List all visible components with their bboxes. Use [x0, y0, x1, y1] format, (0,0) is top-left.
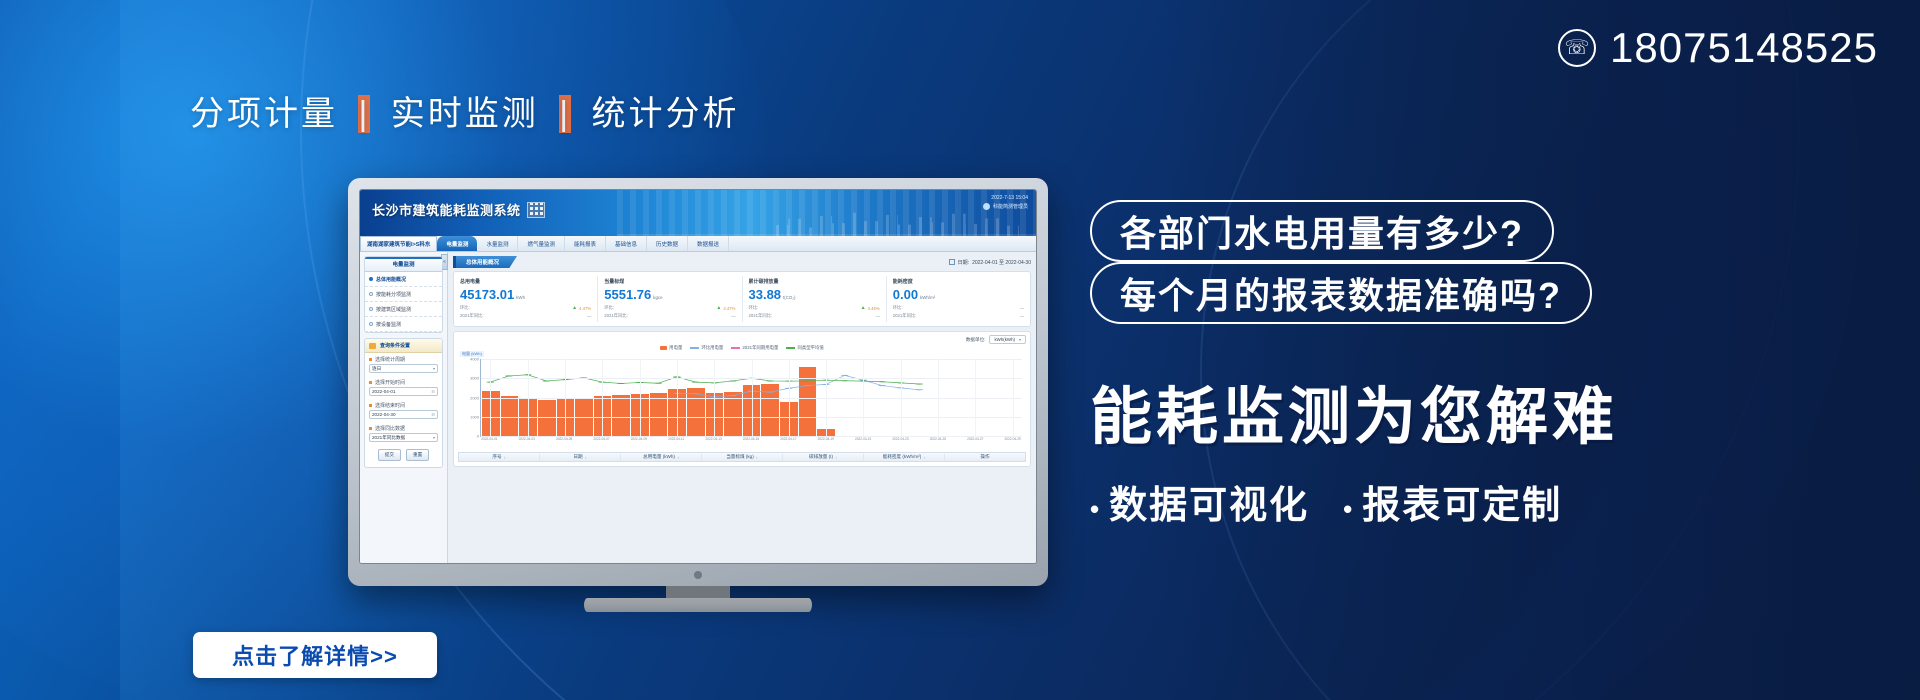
app-nav[interactable]: 湖南湖家建筑节能I>S科东 电量监测 水量监测 燃气量监测 能耗报表 基础信息 … — [360, 236, 1036, 252]
nav-item-data-submit[interactable]: 数据报送 — [688, 236, 729, 251]
kpi-delta: ▲4.46% — [861, 305, 880, 311]
bullet-icon: • — [1090, 494, 1101, 524]
chart-card: 数据单位: kWh(kWh) ▾ 用电量 环比用电量 2021年同期用电量 — [453, 331, 1031, 467]
chevron-down-icon: ▾ — [433, 366, 435, 371]
kpi-unit: kWh/m² — [920, 295, 935, 300]
sort-icon: ↕ — [835, 455, 837, 460]
x-axis-tick: 2022-04-25 — [929, 437, 948, 449]
app-header: 长沙市建筑能耗监测系统 2022-7-13 15:04 科能简测管理员 — [360, 190, 1036, 236]
filter-select-yoy[interactable]: 2021年同比数据 ▾ — [369, 433, 438, 442]
kpi-value: 0.00kWh/m² — [893, 288, 1024, 301]
kpi-details: 环比: ▲4.47% 2021年同比: — — [460, 304, 591, 320]
date-range-label: 日期: — [958, 259, 969, 266]
kpi-details: 环比: ▲4.46% 2021年同比: — — [749, 304, 880, 320]
x-axis-tick: 2022-04-27 — [966, 437, 985, 449]
chart-point — [729, 380, 737, 381]
grid-line-vertical — [677, 359, 678, 436]
kpi-delta: ▲4.47% — [572, 305, 591, 311]
filter-input-start-date[interactable]: 2022-04-01 ☷ — [369, 387, 438, 396]
kpi-number: 0.00 — [893, 287, 918, 302]
sidebar-item-by-device[interactable]: 按设备监测 — [365, 317, 442, 332]
x-axis-tick — [686, 437, 705, 449]
chart-unit-select[interactable]: kWh(kWh) ▾ — [989, 335, 1026, 344]
chart-point — [878, 385, 886, 386]
x-axis-tick — [573, 437, 592, 449]
marker-icon — [369, 358, 372, 361]
bullet-icon — [369, 292, 373, 296]
kpi-yoy-label: 2021年同比: — [893, 313, 917, 319]
grid-line-vertical — [1013, 359, 1014, 436]
chart-point — [617, 383, 625, 384]
filter-icon — [369, 343, 376, 349]
kpi-compare-label: 环比: — [893, 305, 903, 311]
kpi-delta-value: 4.47% — [723, 306, 735, 311]
kpi-yoy-row: 2021年同比: — — [604, 312, 735, 320]
chart-line-同类型平均值 — [490, 375, 919, 384]
filter-label-end: 选择结束时间 — [365, 399, 442, 410]
legend-label: 环比用电量 — [701, 345, 723, 351]
x-axis-tick — [536, 437, 555, 449]
kpi-value: 5551.76kgce — [604, 288, 735, 301]
main-content: 总体用能概况 日期: 2022-04-01 至 2022-04-30 总用电量 — [448, 252, 1036, 563]
headline: 能耗监测为您解难 — [1090, 366, 1890, 456]
kpi-yoy-value: — — [587, 314, 591, 319]
filter-value: 2022-04-01 — [372, 389, 396, 394]
nav-item-report[interactable]: 能耗报表 — [565, 236, 606, 251]
nav-item-history[interactable]: 历史数据 — [647, 236, 688, 251]
x-axis-tick: 2022-04-17 — [779, 437, 798, 449]
grid-line-vertical — [602, 359, 603, 436]
panel-header: 总体用能概况 日期: 2022-04-01 至 2022-04-30 — [453, 256, 1031, 268]
legend-item-mom[interactable]: 环比用电量 — [690, 345, 723, 351]
x-axis-tick — [723, 437, 742, 449]
x-axis-tick — [947, 437, 966, 449]
arrow-up-icon: ▲ — [572, 305, 577, 311]
filter-label-text: 选择结束时间 — [375, 402, 405, 409]
header-user: 科能简测管理员 — [983, 203, 1028, 212]
column-label: 总用电量 (kWh) — [643, 454, 675, 460]
calendar-icon: ☷ — [431, 412, 435, 417]
sidebar-item-by-category[interactable]: 按能耗分项监测 — [365, 287, 442, 302]
kpi-label: 总用电量 — [460, 278, 591, 285]
chart-point — [729, 395, 737, 396]
filter-value: 2022-04-30 — [372, 412, 396, 417]
legend-swatch-icon — [731, 347, 740, 349]
kpi-row: 总用电量 45173.01kWh 环比: ▲4.47% 2021年同比: — [453, 271, 1031, 327]
kpi-label: 能耗密度 — [893, 278, 1024, 285]
reset-button[interactable]: 重置 — [406, 449, 429, 461]
chart-point — [916, 389, 924, 390]
column-label: 当量标煤 (kg) — [726, 454, 754, 460]
x-axis-tick — [835, 437, 854, 449]
y-axis-tick: 0 — [461, 434, 479, 439]
filter-label-yoy: 选择同比数据 — [365, 422, 442, 433]
monitor-stand-base — [584, 598, 812, 612]
cta-button[interactable]: 点击了解详情>> — [193, 632, 437, 678]
x-axis-tick: 2022-04-03 — [517, 437, 536, 449]
x-axis-tick: 2022-04-05 — [555, 437, 574, 449]
kpi-compare-label: 环比: — [749, 305, 759, 311]
filter-value: 2021年同比数据 — [372, 435, 405, 441]
x-axis-tick — [985, 437, 1004, 449]
grid-line-vertical — [826, 359, 827, 436]
sidebar-collapse-icon[interactable]: « — [441, 254, 448, 270]
sort-icon: ↕ — [756, 455, 758, 460]
kpi-number: 33.88 — [749, 287, 782, 302]
chart-point — [841, 380, 849, 381]
filter-label-text: 选择同比数据 — [375, 425, 405, 432]
filter-label-text: 选择统计周期 — [375, 356, 405, 363]
x-axis-tick — [872, 437, 891, 449]
sidebar-section-title: 电量监测 — [365, 257, 442, 272]
data-table-header: 序号↕ 日期↕ 总用电量 (kWh)↕ 当量标煤 (kg)↕ 碳排放量 (t)↕… — [458, 452, 1026, 462]
sidebar-item-label: 按设备监测 — [376, 321, 401, 328]
sidebar-item-label: 按能耗分项监测 — [376, 291, 411, 298]
grid-line-vertical — [714, 359, 715, 436]
chart-point — [878, 381, 886, 382]
legend-label: 2021年同期用电量 — [742, 345, 778, 351]
x-axis-tick: 2022-04-13 — [704, 437, 723, 449]
legend-item-average[interactable]: 同类型平均值 — [786, 345, 823, 351]
column-label: 碳排放量 (t) — [809, 454, 833, 460]
monitor-screen: 长沙市建筑能耗监测系统 2022-7-13 15:04 科能简测管理员 湖南湖家… — [359, 189, 1037, 564]
x-axis-tick — [648, 437, 667, 449]
sort-icon: ↕ — [504, 455, 506, 460]
y-axis-tick: 4000 — [461, 357, 479, 362]
tagline-separator-2: | — [559, 95, 571, 133]
filter-label-period: 选择统计周期 — [365, 353, 442, 364]
grid-line-vertical — [490, 359, 491, 436]
chart-point — [841, 375, 849, 376]
kpi-compare-row: 环比: — — [893, 304, 1024, 312]
filter-label-start: 选择开始时间 — [365, 376, 442, 387]
chart-point — [543, 380, 551, 381]
promo-banner: ☏ 18075148525 分项计量 | 实时监测 | 统计分析 各部门水电用量… — [0, 0, 1920, 700]
chart-legend[interactable]: 用电量 环比用电量 2021年同期用电量 同类型平均值 — [458, 345, 1026, 351]
x-axis-tick — [499, 437, 518, 449]
tagline-part-1: 分项计量 — [190, 95, 338, 133]
sidebar-item-by-area[interactable]: 按建筑区域监测 — [365, 302, 442, 317]
kpi-unit: kgce — [653, 295, 662, 300]
kpi-yoy-row: 2021年同比: — — [893, 312, 1024, 320]
app-title-text: 长沙市建筑能耗监测系统 — [372, 200, 521, 219]
filter-title: 查询条件设置 — [365, 339, 442, 353]
arrow-up-icon: ▲ — [716, 305, 721, 311]
header-status: 2022-7-13 15:04 科能简测管理员 — [983, 194, 1028, 211]
top-tagline: 分项计量 | 实时监测 | 统计分析 — [190, 86, 740, 135]
sidebar-item-overview[interactable]: 总体用能概况 — [365, 272, 442, 287]
chart-point — [766, 380, 774, 381]
x-axis-tick: 2022-04-29 — [1003, 437, 1022, 449]
feature-label-2: 报表可定制 — [1362, 485, 1562, 527]
kpi-yoy-value: — — [875, 314, 879, 319]
kpi-number: 5551.76 — [604, 287, 651, 302]
kpi-delta-value: 4.46% — [868, 306, 880, 311]
monitor-mockup: 长沙市建筑能耗监测系统 2022-7-13 15:04 科能简测管理员 湖南湖家… — [348, 178, 1048, 608]
sidebar-item-label: 按建筑区域监测 — [376, 306, 411, 313]
x-axis-tick: 2022-04-21 — [854, 437, 873, 449]
chevron-down-icon: ▾ — [433, 435, 435, 440]
column-label: 序号 — [492, 454, 501, 460]
table-col-density[interactable]: 能耗密度 (kWh/m²)↕ — [864, 454, 945, 460]
nav-item-water[interactable]: 水量监测 — [477, 236, 518, 251]
x-axis-tick — [760, 437, 779, 449]
filter-input-end-date[interactable]: 2022-04-30 ☷ — [369, 410, 438, 419]
right-copy-column: 各部门水电用量有多少? 每个月的报表数据准确吗? 能耗监测为您解难 •数据可视化… — [1090, 200, 1890, 529]
app-footer: ✉ — [360, 563, 1036, 564]
legend-swatch-icon — [786, 347, 795, 349]
x-axis-tick: 2022-04-15 — [742, 437, 761, 449]
monitor-bezel: 长沙市建筑能耗监测系统 2022-7-13 15:04 科能简测管理员 湖南湖家… — [348, 178, 1048, 586]
kpi-compare-label: 环比: — [604, 305, 614, 311]
sidebar: « 电量监测 总体用能概况 按能耗分项监测 — [360, 252, 448, 563]
x-axis-tick: 2022-04-07 — [592, 437, 611, 449]
kpi-label: 累计碳排放量 — [749, 278, 880, 285]
kpi-label: 当量标煤 — [604, 278, 735, 285]
submit-button[interactable]: 提交 — [378, 449, 401, 461]
grid-line-vertical — [863, 359, 864, 436]
phone-icon: ☏ — [1558, 29, 1596, 67]
table-col-index[interactable]: 序号↕ — [459, 454, 540, 460]
legend-label: 同类型平均值 — [797, 345, 823, 351]
grid-line-vertical — [528, 359, 529, 436]
nav-item-basic-info[interactable]: 基础信息 — [606, 236, 647, 251]
column-label: 日期 — [573, 454, 582, 460]
kpi-unit: kWh — [516, 295, 525, 300]
table-col-date[interactable]: 日期↕ — [540, 454, 621, 460]
chart-plot: 电量 (kWh) 01000200030004000 2022-04-01202… — [458, 353, 1026, 449]
sort-icon: ↕ — [923, 455, 925, 460]
grid-line-vertical — [752, 359, 753, 436]
x-axis-tick: 2022-04-01 — [480, 437, 499, 449]
grid-line-vertical — [789, 359, 790, 436]
legend-swatch-icon — [660, 346, 667, 350]
filter-buttons: 提交 重置 — [365, 445, 442, 467]
filter-label-text: 选择开始时间 — [375, 379, 405, 386]
sort-icon: ↕ — [585, 455, 587, 460]
marker-icon — [369, 404, 372, 407]
kpi-card-carbon: 累计碳排放量 33.88t(CO₂) 环比: ▲4.46% 2021年同比: — [743, 276, 887, 322]
feature-list: •数据可视化 •报表可定制 — [1090, 474, 1890, 529]
kpi-compare-row: 环比: ▲4.46% — [749, 304, 880, 312]
filter-select-period[interactable]: 逐日 ▾ — [369, 364, 438, 373]
chart-unit-label: 数据单位: — [966, 337, 986, 343]
chart-x-axis: 2022-04-012022-04-032022-04-052022-04-07… — [480, 437, 1022, 449]
x-axis-tick — [798, 437, 817, 449]
chart-toolbar: 数据单位: kWh(kWh) ▾ — [458, 335, 1026, 344]
kpi-value: 33.88t(CO₂) — [749, 288, 880, 301]
grid-line-vertical — [938, 359, 939, 436]
calendar-icon: ☷ — [431, 389, 435, 394]
app-title: 长沙市建筑能耗监测系统 — [372, 200, 545, 219]
skyline-graphic — [617, 190, 1036, 236]
grid-line-vertical — [901, 359, 902, 436]
legend-swatch-icon — [690, 347, 699, 349]
phone-number: 18075148525 — [1610, 24, 1878, 72]
chart-point — [804, 380, 812, 381]
panel-title: 总体用能概况 — [453, 256, 517, 268]
kpi-card-energy-density: 能耗密度 0.00kWh/m² 环比: — 2021年同比: — [887, 276, 1030, 322]
kpi-compare-label: 环比: — [460, 305, 470, 311]
chart-point — [654, 383, 662, 384]
kpi-yoy-value: — — [1020, 314, 1024, 319]
chart-point — [505, 375, 513, 376]
legend-label: 用电量 — [669, 345, 682, 351]
y-axis-tick: 2000 — [461, 395, 479, 400]
tagline-part-3: 统计分析 — [592, 95, 740, 133]
bullet-icon — [369, 277, 373, 281]
sidebar-menu-card: 电量监测 总体用能概况 按能耗分项监测 按建筑区域监 — [364, 256, 443, 333]
sidebar-filter-card: 查询条件设置 选择统计周期 逐日 ▾ — [364, 338, 443, 468]
x-axis-tick: 2022-04-19 — [816, 437, 835, 449]
chart-point — [692, 393, 700, 394]
table-col-total[interactable]: 总用电量 (kWh)↕ — [621, 454, 702, 460]
kpi-yoy-row: 2021年同比: — — [460, 312, 591, 320]
user-avatar-icon — [983, 203, 990, 210]
grid-line-vertical — [640, 359, 641, 436]
kpi-card-standard-coal: 当量标煤 5551.76kgce 环比: ▲4.47% 2021年同比: — [598, 276, 742, 322]
sort-icon: ↕ — [677, 455, 679, 460]
kpi-number: 45173.01 — [460, 287, 514, 302]
bullet-icon — [369, 307, 373, 311]
feature-label-1: 数据可视化 — [1109, 485, 1309, 527]
kpi-yoy-label: 2021年同比: — [460, 313, 484, 319]
app-body: « 电量监测 总体用能概况 按能耗分项监测 — [360, 252, 1036, 563]
feature-item-2: •报表可定制 — [1343, 474, 1562, 529]
filter-title-label: 查询条件设置 — [380, 342, 410, 349]
date-range-value: 2022-04-01 至 2022-04-30 — [972, 259, 1031, 266]
kpi-yoy-row: 2021年同比: — — [749, 312, 880, 320]
kpi-yoy-value: — — [731, 314, 735, 319]
chart-unit-value: kWh(kWh) — [994, 337, 1015, 342]
marker-icon — [369, 427, 372, 430]
chart-point — [916, 383, 924, 384]
y-axis-tick: 1000 — [461, 414, 479, 419]
marker-icon — [369, 381, 372, 384]
table-col-action[interactable]: 操作 — [945, 454, 1025, 460]
kpi-compare-row: 环比: ▲4.47% — [604, 304, 735, 312]
question-pill-1: 各部门水电用量有多少? — [1090, 200, 1554, 262]
kpi-yoy-label: 2021年同比: — [749, 313, 773, 319]
question-pill-2: 每个月的报表数据准确吗? — [1090, 262, 1592, 324]
tagline-separator-1: | — [358, 95, 370, 133]
legend-item-usage[interactable]: 用电量 — [660, 345, 682, 351]
chevron-down-icon: ▾ — [1019, 337, 1021, 342]
chart-grid: 01000200030004000 — [480, 359, 1022, 437]
kpi-delta-value: 4.47% — [579, 306, 591, 311]
feature-item-1: •数据可视化 — [1090, 474, 1309, 529]
arrow-up-icon: ▲ — [861, 305, 866, 311]
kpi-details: 环比: ▲4.47% 2021年同比: — — [604, 304, 735, 320]
kpi-yoy-label: 2021年同比: — [604, 313, 628, 319]
calendar-icon — [949, 259, 955, 265]
header-user-name: 科能简测管理员 — [993, 203, 1028, 212]
bullet-icon — [369, 322, 373, 326]
kpi-delta-value: — — [1020, 306, 1024, 311]
nav-item-electricity[interactable]: 电量监测 — [437, 236, 477, 251]
table-col-coal[interactable]: 当量标煤 (kg)↕ — [702, 454, 783, 460]
legend-item-yoy[interactable]: 2021年同期用电量 — [731, 345, 778, 351]
kpi-details: 环比: — 2021年同比: — — [893, 304, 1024, 320]
bullet-icon: • — [1343, 494, 1354, 524]
x-axis-tick — [611, 437, 630, 449]
filter-value: 逐日 — [372, 366, 381, 372]
x-axis-tick: 2022-04-11 — [667, 437, 686, 449]
building-icon — [527, 202, 545, 218]
y-axis-tick: 3000 — [461, 376, 479, 381]
x-axis-tick: 2022-04-09 — [630, 437, 649, 449]
grid-line-vertical — [975, 359, 976, 436]
contact-phone: ☏ 18075148525 — [1558, 24, 1878, 72]
chart-point — [766, 392, 774, 393]
tagline-part-2: 实时监测 — [391, 95, 539, 133]
chart-point — [804, 385, 812, 386]
date-range-display[interactable]: 日期: 2022-04-01 至 2022-04-30 — [949, 259, 1031, 266]
table-col-carbon[interactable]: 碳排放量 (t)↕ — [783, 454, 864, 460]
x-axis-tick — [910, 437, 929, 449]
column-label: 能耗密度 (kWh/m²) — [883, 454, 922, 460]
sidebar-item-label: 总体用能概况 — [376, 276, 406, 283]
chart-point — [692, 382, 700, 383]
grid-line-vertical — [565, 359, 566, 436]
column-label: 操作 — [980, 454, 989, 460]
nav-item-gas[interactable]: 燃气量监测 — [518, 236, 565, 251]
nav-brand-tab[interactable]: 湖南湖家建筑节能I>S科东 — [360, 236, 437, 251]
kpi-compare-row: 环比: ▲4.47% — [460, 304, 591, 312]
kpi-delta: ▲4.47% — [716, 305, 735, 311]
kpi-value: 45173.01kWh — [460, 288, 591, 301]
x-axis-tick: 2022-04-23 — [891, 437, 910, 449]
kpi-card-total-electricity: 总用电量 45173.01kWh 环比: ▲4.47% 2021年同比: — [454, 276, 598, 322]
header-timestamp: 2022-7-13 15:04 — [983, 194, 1028, 203]
kpi-unit: t(CO₂) — [783, 295, 795, 300]
